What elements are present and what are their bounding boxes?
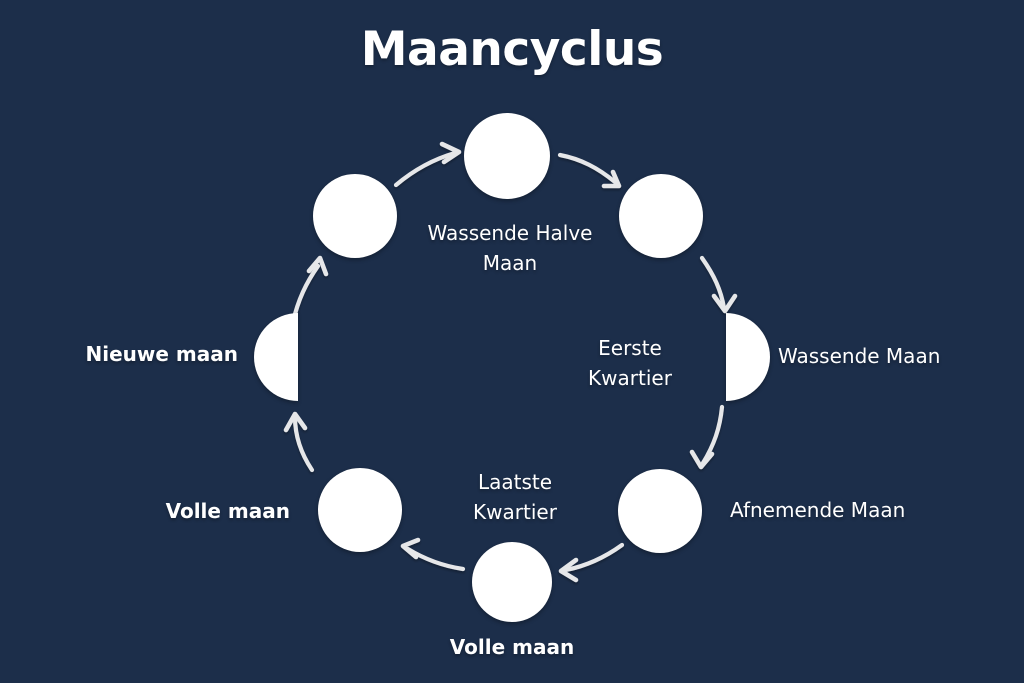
arrow-wassende-halve-maan-to-top	[396, 144, 459, 185]
moon-top-full	[464, 113, 550, 199]
label-nieuwe-maan: Nieuwe maan	[20, 339, 238, 369]
moon-laatste-kwartier	[318, 468, 402, 552]
moon-afnemende-maan	[618, 469, 702, 553]
label-volle-maan-links: Volle maan	[60, 496, 290, 526]
diagram-canvas: Maancyclus .arw { fill: none; stroke: #e…	[0, 0, 1024, 683]
arrow-wassende-maan-to-eerste-kwartier	[702, 258, 735, 311]
moon-volle-maan-onder	[472, 542, 552, 622]
label-volle-maan-onder: Volle maan	[402, 632, 622, 662]
label-wassende-halve-maan: Wassende Halve Maan	[420, 218, 600, 278]
arrow-afnemende-maan-to-volle-maan	[561, 545, 622, 580]
label-wassende-maan: Wassende Maan	[778, 341, 1018, 371]
moon-wassende-maan	[619, 174, 703, 258]
label-afnemende-maan: Afnemende Maan	[730, 495, 990, 525]
arrow-eerste-kwartier-to-afnemende-maan	[692, 407, 722, 467]
arrow-laatste-kwartier-to-nieuwe-maan	[286, 414, 312, 470]
label-laatste-kwartier: Laatste Kwartier	[430, 467, 600, 527]
arrow-volle-maan-to-laatste-kwartier	[403, 540, 463, 569]
arrow-top-to-wassende-maan	[560, 155, 619, 186]
label-eerste-kwartier: Eerste Kwartier	[540, 333, 720, 393]
moon-wassende-halve-maan	[313, 174, 397, 258]
